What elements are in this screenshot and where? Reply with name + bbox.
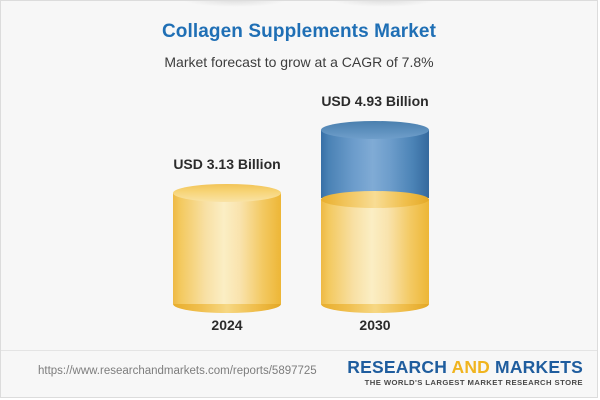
- logo-text-research: RESEARCH: [347, 357, 451, 377]
- category-label-2030: 2030: [295, 317, 455, 333]
- logo-wordmark: RESEARCH AND MARKETS: [347, 358, 583, 376]
- logo-text-markets: MARKETS: [490, 357, 583, 377]
- chart-footer: https://www.researchandmarkets.com/repor…: [1, 350, 598, 397]
- research-and-markets-logo[interactable]: RESEARCH AND MARKETS THE WORLD'S LARGEST…: [347, 358, 583, 388]
- chart-card: Collagen Supplements Market Market forec…: [0, 0, 598, 398]
- plot-area: USD 3.13 Billion 2024 USD 4.93 Billion 2…: [1, 1, 598, 353]
- value-label-2030: USD 4.93 Billion: [265, 93, 485, 109]
- bar-body-yellow: [173, 193, 281, 304]
- bar-segment-divider: [321, 191, 429, 208]
- value-label-2024: USD 3.13 Billion: [117, 156, 337, 172]
- logo-tagline: THE WORLD'S LARGEST MARKET RESEARCH STOR…: [347, 379, 583, 387]
- bar-body-yellow: [321, 199, 429, 304]
- bar-body-blue: [321, 130, 429, 198]
- report-url-link[interactable]: https://www.researchandmarkets.com/repor…: [38, 365, 317, 377]
- logo-text-and: AND: [451, 357, 490, 377]
- bar-top-cap: [173, 184, 281, 202]
- bar-shadow: [329, 0, 437, 7]
- bar-shadow: [181, 0, 289, 7]
- bar-top-cap: [321, 121, 429, 139]
- category-label-2024: 2024: [147, 317, 307, 333]
